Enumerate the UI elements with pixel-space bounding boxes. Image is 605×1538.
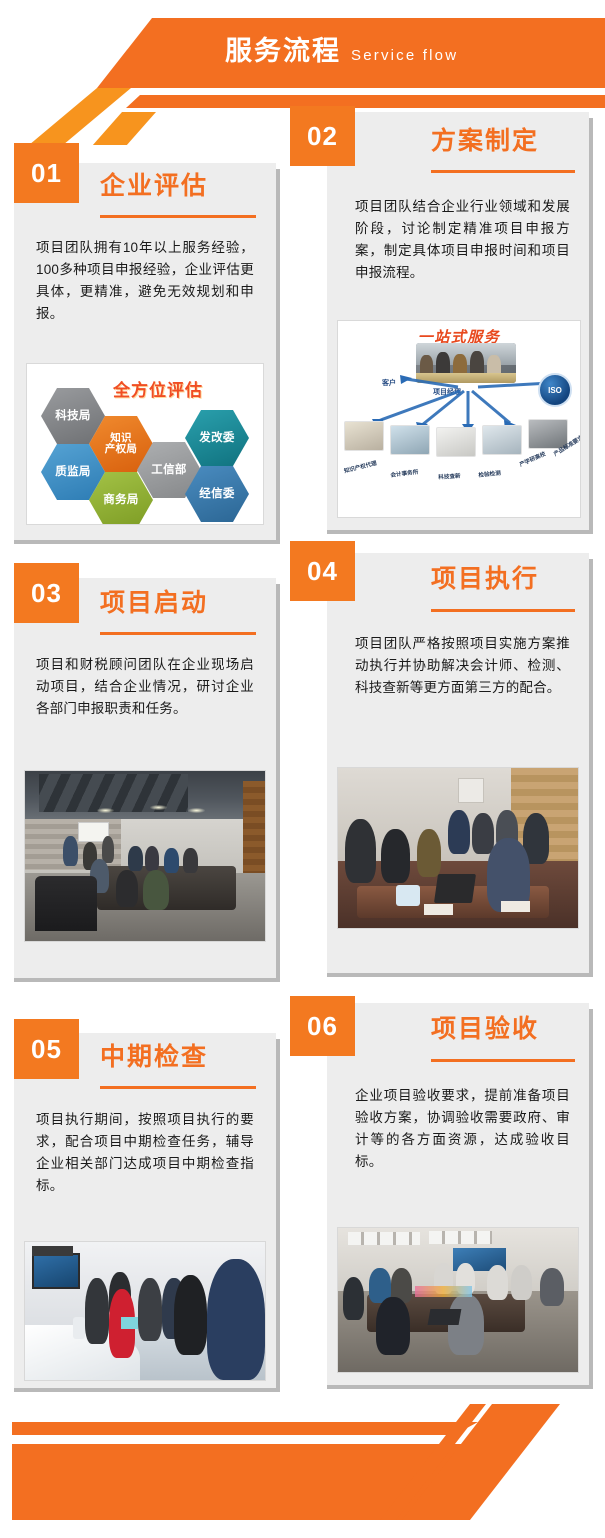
title-underline-05 — [100, 1086, 256, 1089]
card-body-06: 企业项目验收要求，提前准备项目验收方案，协调验收需要政府、审计等的各方面资源，达… — [355, 1085, 570, 1172]
hexagon-evaluation-chart: 全方位评估 科技局 知识产权局 发改委 质监局 工信部 经信委 — [26, 363, 264, 525]
card-body-03: 项目和财税顾问团队在企业现场启动项目，结合企业情况，研讨企业各部门申报职责和任务… — [36, 654, 254, 720]
hex-node-fagaiwei: 发改委 — [185, 410, 249, 466]
conference-room-photo — [24, 770, 266, 942]
oss-thumb-ip-agency — [344, 421, 384, 451]
flow-card-01[interactable]: 01 企业评估 项目团队拥有10年以上服务经验，100多种项目申报经验，企业评估… — [14, 163, 276, 540]
footer-banner: 全国统一热线： 400-150-1560 — [0, 1398, 605, 1538]
card-body-04: 项目团队严格按照项目实施方案推动执行并协助解决会计师、检测、科技查新等更方面第三… — [355, 633, 570, 699]
site-visit-photo — [24, 1241, 266, 1381]
card-title-03: 项目启动 — [100, 591, 208, 616]
iso-certification-icon: ISO — [538, 373, 572, 407]
title-underline-06 — [431, 1059, 575, 1062]
oss-caption-2: 科技查新 — [438, 471, 461, 481]
flow-card-02[interactable]: 02 方案制定 项目团队结合企业行业领域和发展阶段，讨论制定精准项目申报方案，制… — [327, 112, 589, 530]
card-title-01: 企业评估 — [100, 174, 208, 199]
card-number-badge-03: 03 — [14, 563, 79, 623]
card-title-04: 项目执行 — [431, 567, 539, 592]
working-meeting-photo — [337, 767, 579, 929]
card-body-05: 项目执行期间，按照项目执行的要求，配合项目中期检查任务，辅导企业相关部门达成项目… — [36, 1109, 254, 1196]
oss-thumb-tech-search — [436, 427, 476, 457]
footer-shape-paths — [0, 1398, 605, 1538]
flow-card-04[interactable]: 04 项目执行 项目团队严格按照项目实施方案推动执行并协助解决会计师、检测、科技… — [327, 553, 589, 973]
card-title-02: 方案制定 — [431, 129, 539, 154]
card-number-badge-06: 06 — [290, 996, 355, 1056]
card-number-badge-01: 01 — [14, 143, 79, 203]
title-underline-04 — [431, 609, 575, 612]
title-underline-01 — [100, 215, 256, 218]
title-underline-02 — [431, 170, 575, 173]
card-number-badge-02: 02 — [290, 106, 355, 166]
card-body-02: 项目团队结合企业行业领域和发展阶段，讨论制定精准项目申报方案，制定具体项目申报时… — [355, 196, 570, 283]
flow-card-05[interactable]: 05 中期检查 项目执行期间，按照项目执行的要求，配合项目中期检查任务，辅导企业… — [14, 1033, 276, 1388]
acceptance-meeting-photo — [337, 1227, 579, 1373]
flow-card-03[interactable]: 03 项目启动 项目和财税顾问团队在企业现场启动项目，结合企业情况，研讨企业各部… — [14, 578, 276, 978]
oss-thumb-inspection — [482, 425, 522, 455]
card-title-05: 中期检查 — [100, 1045, 208, 1070]
flow-card-06[interactable]: 06 项目验收 企业项目验收要求，提前准备项目验收方案，协调验收需要政府、审计等… — [327, 1003, 589, 1385]
card-body-01: 项目团队拥有10年以上服务经验，100多种项目申报经验，企业评估更具体，更精准，… — [36, 237, 254, 324]
one-stop-service-diagram: 一站式服务 客户 项目经理 — [337, 320, 581, 518]
oss-thumb-accounting — [390, 425, 430, 455]
title-underline-03 — [100, 632, 256, 635]
service-flow-infographic: 服务流程 Service flow 01 企业评估 项目团队拥有10年以上服务经… — [0, 0, 605, 1538]
card-title-06: 项目验收 — [431, 1017, 539, 1042]
card-number-badge-04: 04 — [290, 541, 355, 601]
card-number-badge-05: 05 — [14, 1019, 79, 1079]
hex-chart-title: 全方位评估 — [113, 376, 203, 401]
